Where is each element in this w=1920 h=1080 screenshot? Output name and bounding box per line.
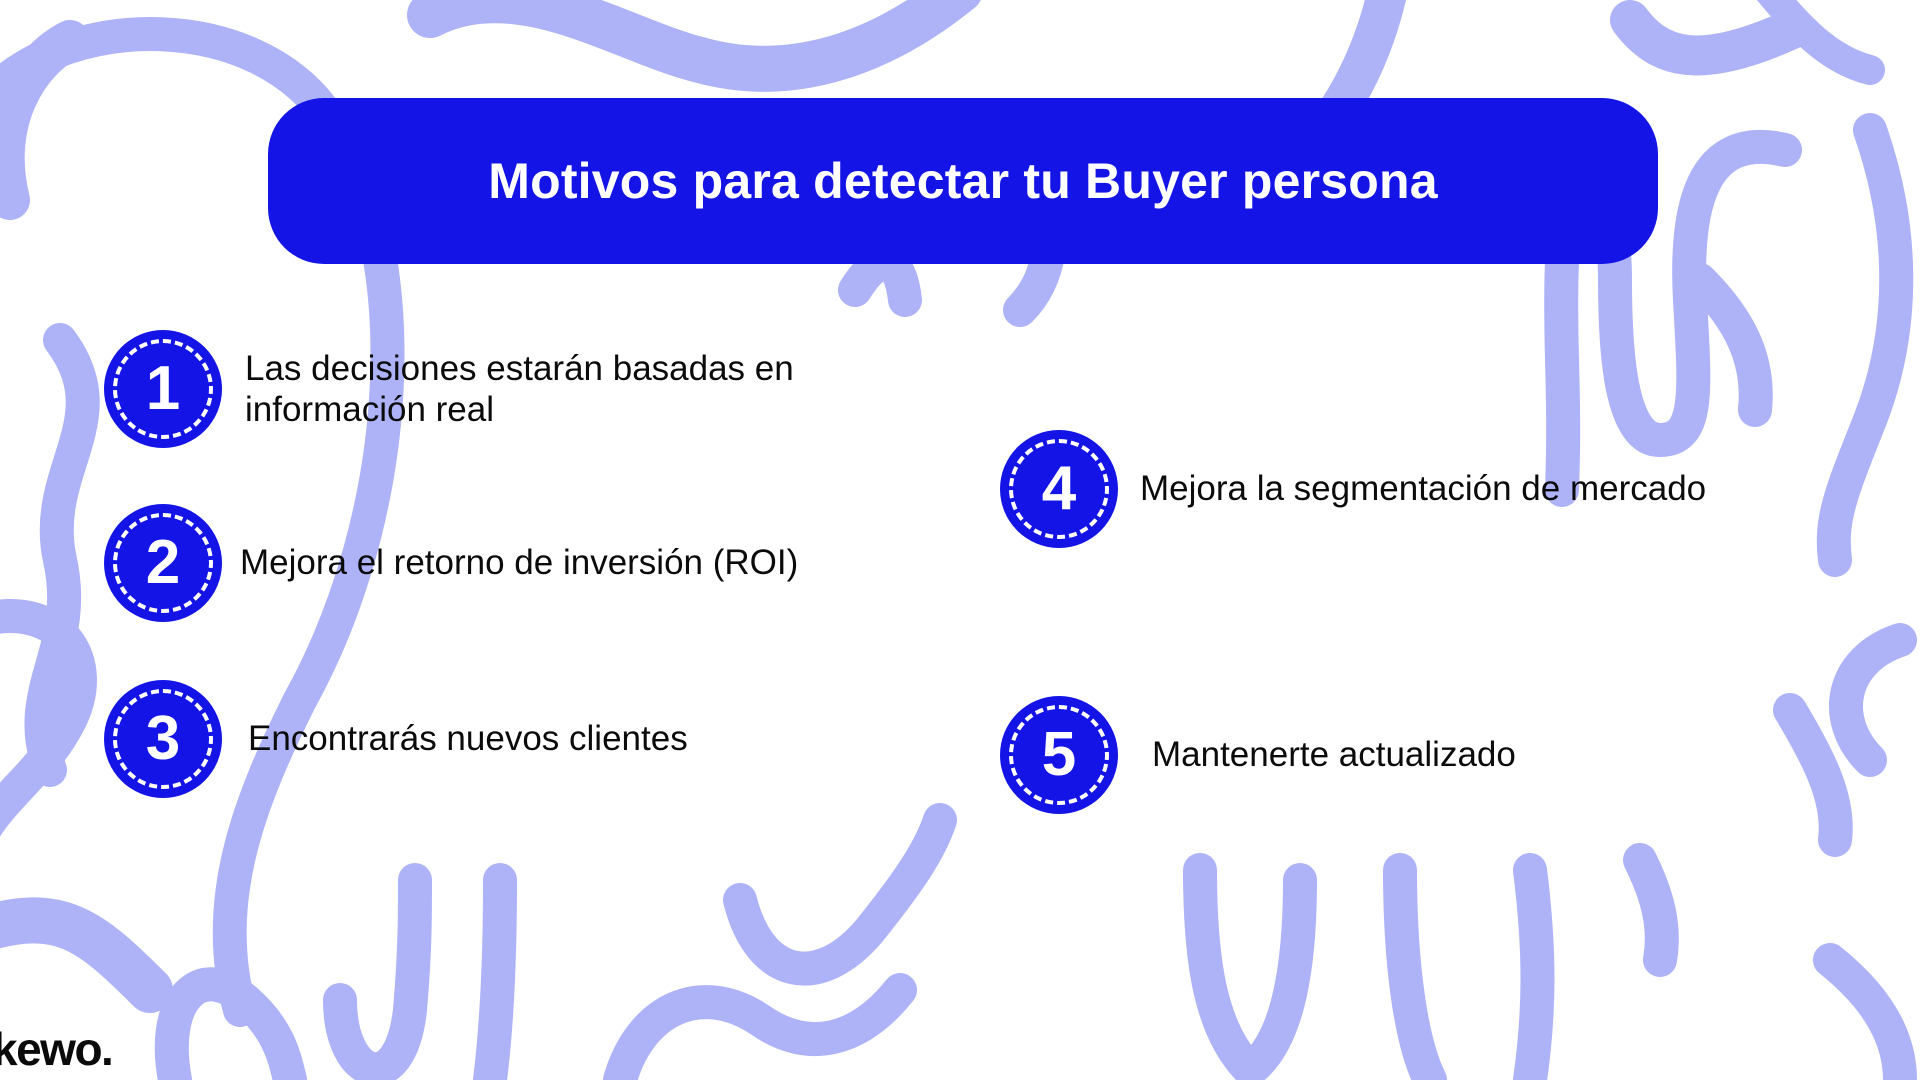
badge-number: 5 bbox=[1042, 724, 1076, 786]
list-item-label: Mejora el retorno de inversión (ROI) bbox=[240, 542, 798, 583]
list-item: 4 Mejora la segmentación de mercado bbox=[1000, 430, 1830, 548]
number-badge-3: 3 bbox=[104, 680, 222, 798]
list-item: 3 Encontrarás nuevos clientes bbox=[104, 680, 884, 798]
list-item-label: Las decisiones estarán basadas en inform… bbox=[245, 348, 884, 431]
number-badge-2: 2 bbox=[104, 504, 222, 622]
reasons-list-right: 4 Mejora la segmentación de mercado 5 Ma… bbox=[1000, 430, 1830, 814]
badge-number: 4 bbox=[1042, 458, 1076, 520]
badge-number: 3 bbox=[146, 708, 180, 770]
page-title: Motivos para detectar tu Buyer persona bbox=[488, 154, 1438, 209]
slide-canvas: Motivos para detectar tu Buyer persona 1… bbox=[0, 0, 1920, 1080]
list-item-label: Encontrarás nuevos clientes bbox=[248, 718, 688, 759]
badge-number: 1 bbox=[146, 358, 180, 420]
list-item: 2 Mejora el retorno de inversión (ROI) bbox=[104, 504, 884, 622]
brand-logo: kewo. bbox=[0, 1026, 112, 1072]
list-item: 5 Mantenerte actualizado bbox=[1000, 696, 1830, 814]
list-item: 1 Las decisiones estarán basadas en info… bbox=[104, 330, 884, 448]
number-badge-1: 1 bbox=[104, 330, 222, 448]
number-badge-5: 5 bbox=[1000, 696, 1118, 814]
title-banner: Motivos para detectar tu Buyer persona bbox=[268, 98, 1658, 264]
number-badge-4: 4 bbox=[1000, 430, 1118, 548]
list-item-label: Mantenerte actualizado bbox=[1152, 734, 1516, 775]
list-item-label: Mejora la segmentación de mercado bbox=[1140, 468, 1706, 509]
reasons-list-left: 1 Las decisiones estarán basadas en info… bbox=[104, 330, 884, 798]
badge-number: 2 bbox=[146, 532, 180, 594]
